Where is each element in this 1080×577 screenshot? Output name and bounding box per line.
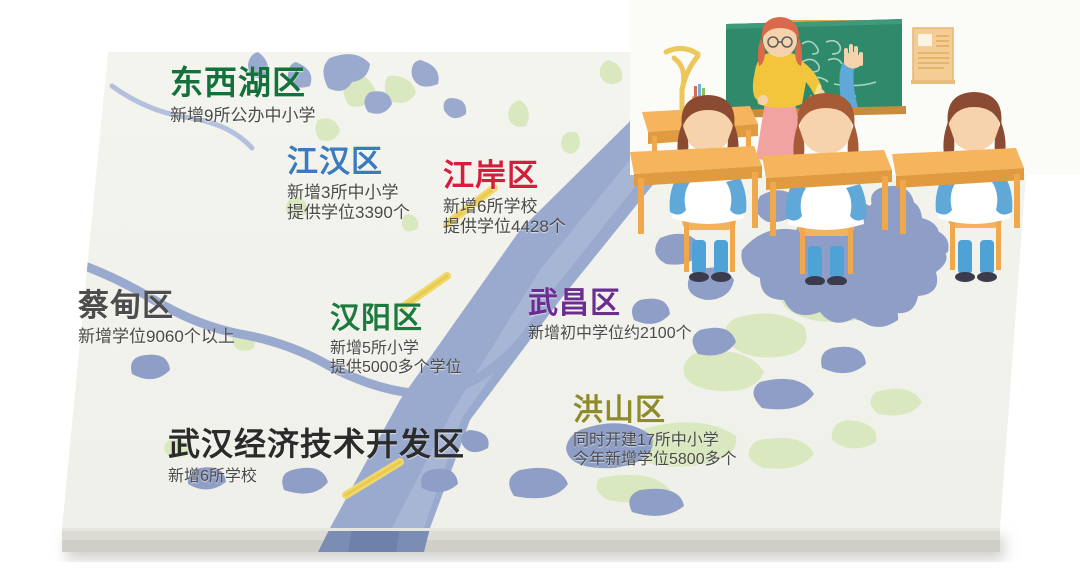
district-detail: 新增6所学校 提供学位4428个 [443, 197, 566, 238]
district-detail: 新增9所公办中小学 [170, 106, 315, 127]
district-detail-line: 新增5所小学 [330, 339, 462, 359]
district-title: 江汉区 [287, 146, 410, 179]
district-detail: 新增6所学校 [168, 467, 465, 487]
district-detail: 新增3所中小学 提供学位3390个 [287, 183, 410, 224]
district-label-jianghan[interactable]: 江汉区 新增3所中小学 提供学位3390个 [287, 146, 410, 224]
district-label-kaifaqu[interactable]: 武汉经济技术开发区 新增6所学校 [168, 428, 465, 486]
district-detail-line: 今年新增学位5800多个 [573, 450, 737, 470]
classroom-svg [630, 0, 1080, 285]
district-title: 蔡甸区 [78, 290, 235, 323]
district-label-hongshan[interactable]: 洪山区 同时开建17所中小学 今年新增学位5800多个 [573, 395, 737, 470]
classroom-illustration [630, 0, 1080, 285]
district-detail-line: 新增初中学位约2100个 [528, 324, 692, 344]
district-title: 洪山区 [573, 395, 737, 427]
district-detail: 新增5所小学 提供5000多个学位 [330, 339, 462, 378]
district-title: 武汉经济技术开发区 [168, 428, 465, 462]
map-slab-side [62, 528, 1000, 552]
district-detail-line: 新增6所学校 [443, 197, 566, 218]
district-label-jiangan[interactable]: 江岸区 新增6所学校 提供学位4428个 [443, 160, 566, 238]
district-label-wuchang[interactable]: 武昌区 新增初中学位约2100个 [528, 288, 692, 343]
district-detail-line: 同时开建17所中小学 [573, 431, 737, 451]
district-detail-line: 新增学位9060个以上 [78, 327, 235, 348]
district-detail: 同时开建17所中小学 今年新增学位5800多个 [573, 431, 737, 470]
wall-poster-icon [911, 28, 955, 84]
district-detail: 新增初中学位约2100个 [528, 324, 692, 344]
district-title: 汉阳区 [330, 303, 462, 335]
district-detail: 新增学位9060个以上 [78, 327, 235, 348]
district-detail-line: 新增9所公办中小学 [170, 106, 315, 127]
district-detail-line: 提供学位3390个 [287, 203, 410, 224]
district-detail-line: 提供学位4428个 [443, 217, 566, 238]
district-detail-line: 新增6所学校 [168, 467, 465, 487]
district-label-dongxihu[interactable]: 东西湖区 新增9所公办中小学 [170, 66, 315, 126]
district-title: 武昌区 [528, 288, 692, 320]
slab-edge-water [318, 528, 430, 552]
district-title: 江岸区 [443, 160, 566, 193]
infographic-canvas: 东西湖区 新增9所公办中小学 江汉区 新增3所中小学 提供学位3390个 江岸区… [0, 0, 1080, 577]
district-detail-line: 新增3所中小学 [287, 183, 410, 204]
district-detail-line: 提供5000多个学位 [330, 358, 462, 378]
district-label-hanyang[interactable]: 汉阳区 新增5所小学 提供5000多个学位 [330, 303, 462, 378]
district-title: 东西湖区 [170, 66, 315, 101]
district-label-caidian[interactable]: 蔡甸区 新增学位9060个以上 [78, 290, 235, 347]
